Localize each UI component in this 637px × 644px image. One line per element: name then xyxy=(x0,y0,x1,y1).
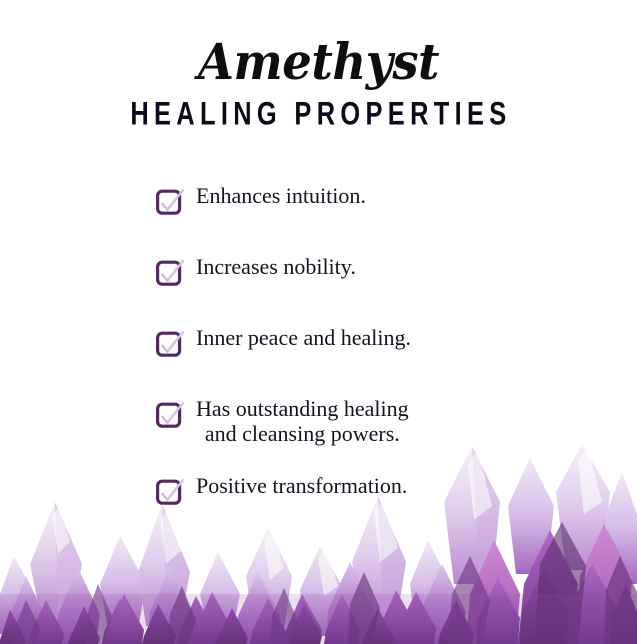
checked-checkbox-icon xyxy=(156,400,186,428)
amethyst-healing-properties-poster: Amethyst HEALING PROPERTIES Enhances int… xyxy=(0,0,637,644)
poster-header: Amethyst HEALING PROPERTIES xyxy=(0,0,637,132)
list-item-label: Has outstanding healing and cleansing po… xyxy=(186,391,409,446)
amethyst-crystal-cluster-photo xyxy=(0,444,637,644)
list-item: Has outstanding healing and cleansing po… xyxy=(0,391,637,446)
list-item-label: Increases nobility. xyxy=(186,249,356,279)
checked-checkbox-icon xyxy=(156,329,186,357)
list-item: Enhances intuition. xyxy=(0,178,637,215)
page-subtitle: HEALING PROPERTIES xyxy=(57,95,579,133)
list-item: Increases nobility. xyxy=(0,249,637,286)
list-item-label: Enhances intuition. xyxy=(186,178,366,208)
page-title: Amethyst xyxy=(22,34,614,90)
list-item: Inner peace and healing. xyxy=(0,320,637,357)
checked-checkbox-icon xyxy=(156,258,186,286)
list-item-label: Inner peace and healing. xyxy=(186,320,411,350)
checked-checkbox-icon xyxy=(156,187,186,215)
